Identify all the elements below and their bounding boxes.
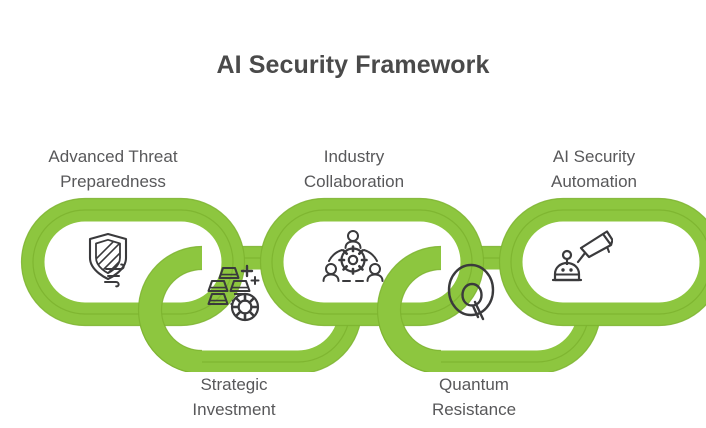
link-label-quantum-resistance: Quantum Resistance [384,373,564,422]
link-label-advanced-threat-preparedness: Advanced Threat Preparedness [3,145,223,194]
chain-graphic [0,196,706,372]
link-label-ai-security-automation: AI Security Automation [504,145,684,194]
chain-link-3 [261,199,484,326]
link-label-industry-collaboration: Industry Collaboration [264,145,444,194]
infographic-canvas: AI Security Framework [0,0,706,428]
page-title: AI Security Framework [0,50,706,80]
chain-link-1-ring [33,210,233,314]
chain-link-3-ring [272,210,472,314]
chain-link-5 [500,199,706,326]
chain-links-svg [0,196,706,372]
link-label-strategic-investment: Strategic Investment [144,373,324,422]
chain-link-5-ring [511,210,706,314]
chain-link-1 [22,199,245,326]
